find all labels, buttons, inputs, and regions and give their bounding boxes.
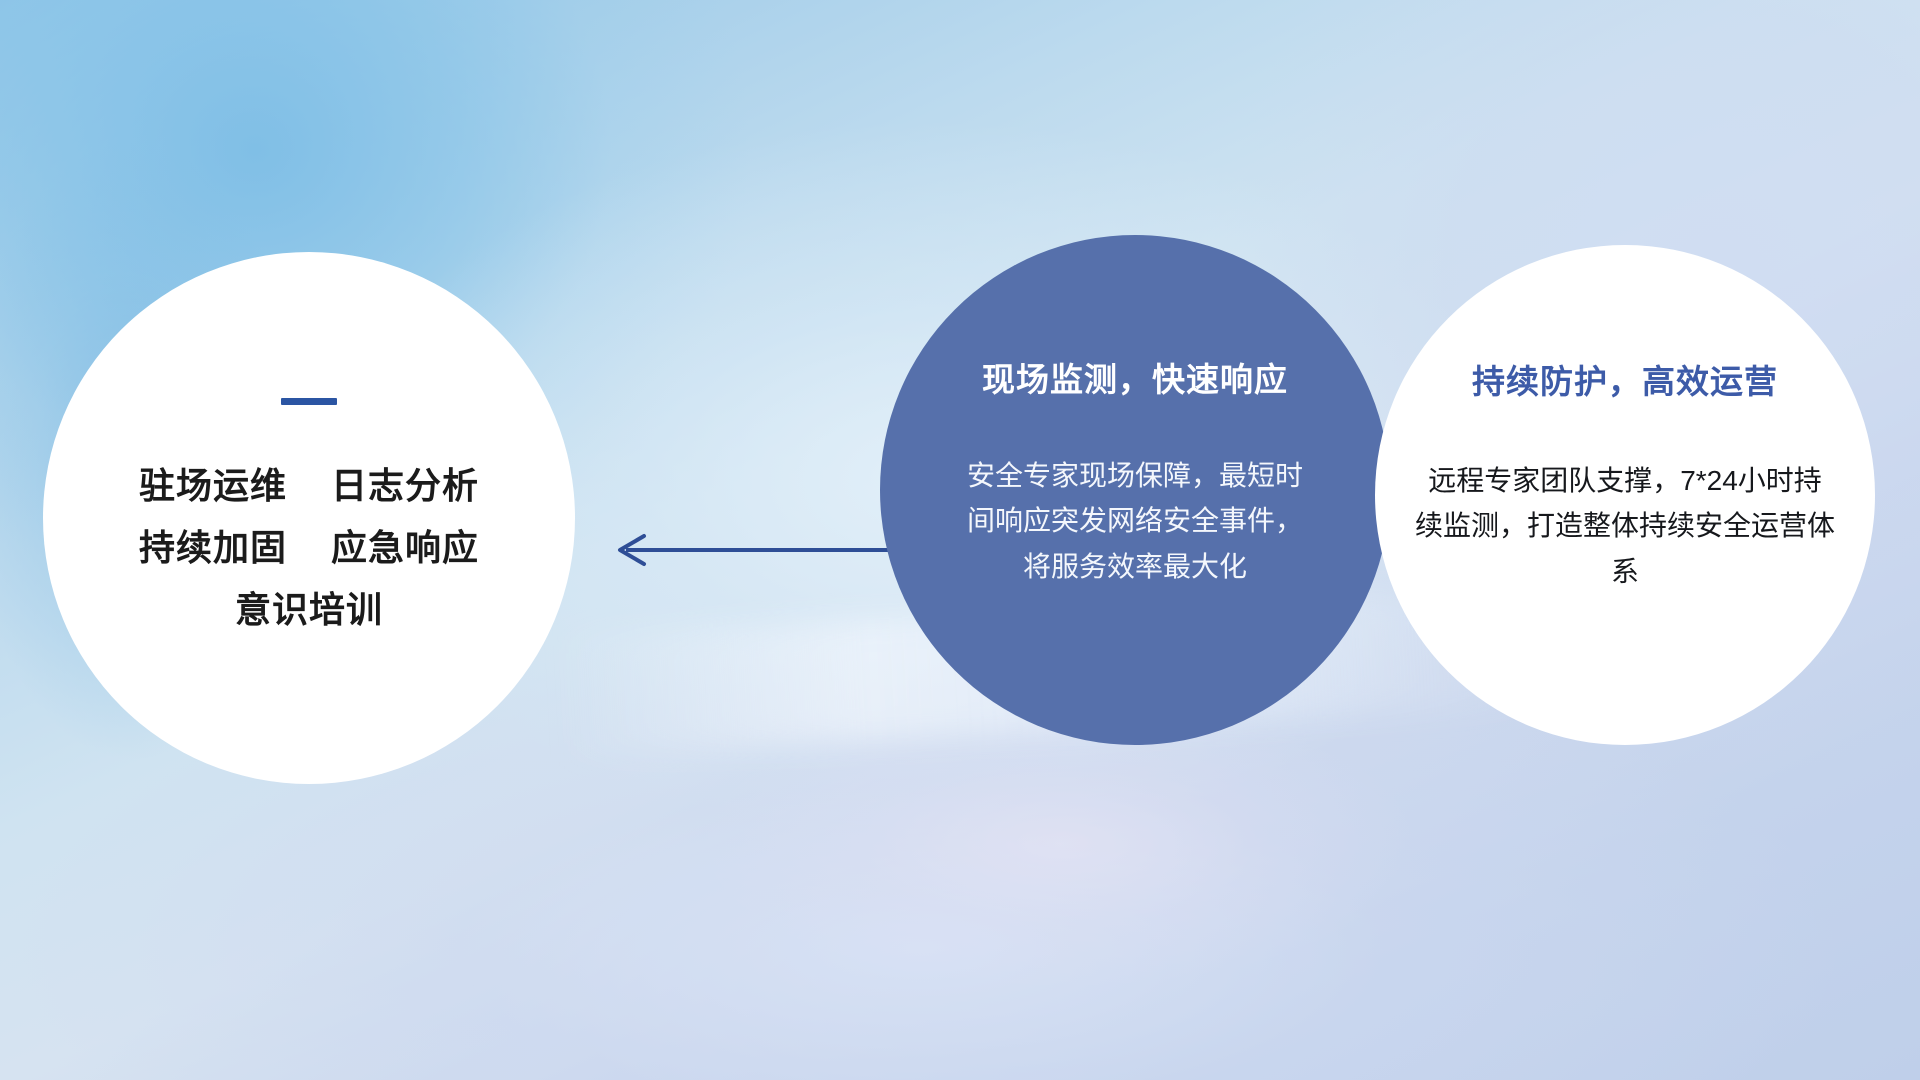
arrow-left-icon — [600, 520, 890, 580]
divider-dash — [281, 398, 337, 405]
continuous-protection-title: 持续防护，高效运营 — [1472, 355, 1778, 403]
capability-circle-left[interactable]: 驻场运维 日志分析 持续加固 应急响应 意识培训 — [43, 252, 575, 784]
onsite-monitoring-circle[interactable]: 现场监测，快速响应 安全专家现场保障，最短时间响应突发网络安全事件，将服务效率最… — [880, 235, 1390, 745]
slide-canvas: 驻场运维 日志分析 持续加固 应急响应 意识培训 现场监测，快速响应 安全专家现… — [0, 0, 1920, 1080]
capability-line: 意识培训 — [43, 579, 575, 641]
onsite-monitoring-body: 安全专家现场保障，最短时间响应突发网络安全事件，将服务效率最大化 — [965, 453, 1305, 589]
capability-line: 持续加固 应急响应 — [43, 517, 575, 579]
capability-list: 驻场运维 日志分析 持续加固 应急响应 意识培训 — [43, 455, 575, 641]
capability-line: 驻场运维 日志分析 — [43, 455, 575, 517]
onsite-monitoring-title: 现场监测，快速响应 — [982, 353, 1288, 401]
continuous-protection-circle[interactable]: 持续防护，高效运营 远程专家团队支撑，7*24小时持续监测，打造整体持续安全运营… — [1375, 245, 1875, 745]
background-sheen — [700, 700, 1600, 1020]
continuous-protection-body: 远程专家团队支撑，7*24小时持续监测，打造整体持续安全运营体系 — [1415, 458, 1835, 594]
